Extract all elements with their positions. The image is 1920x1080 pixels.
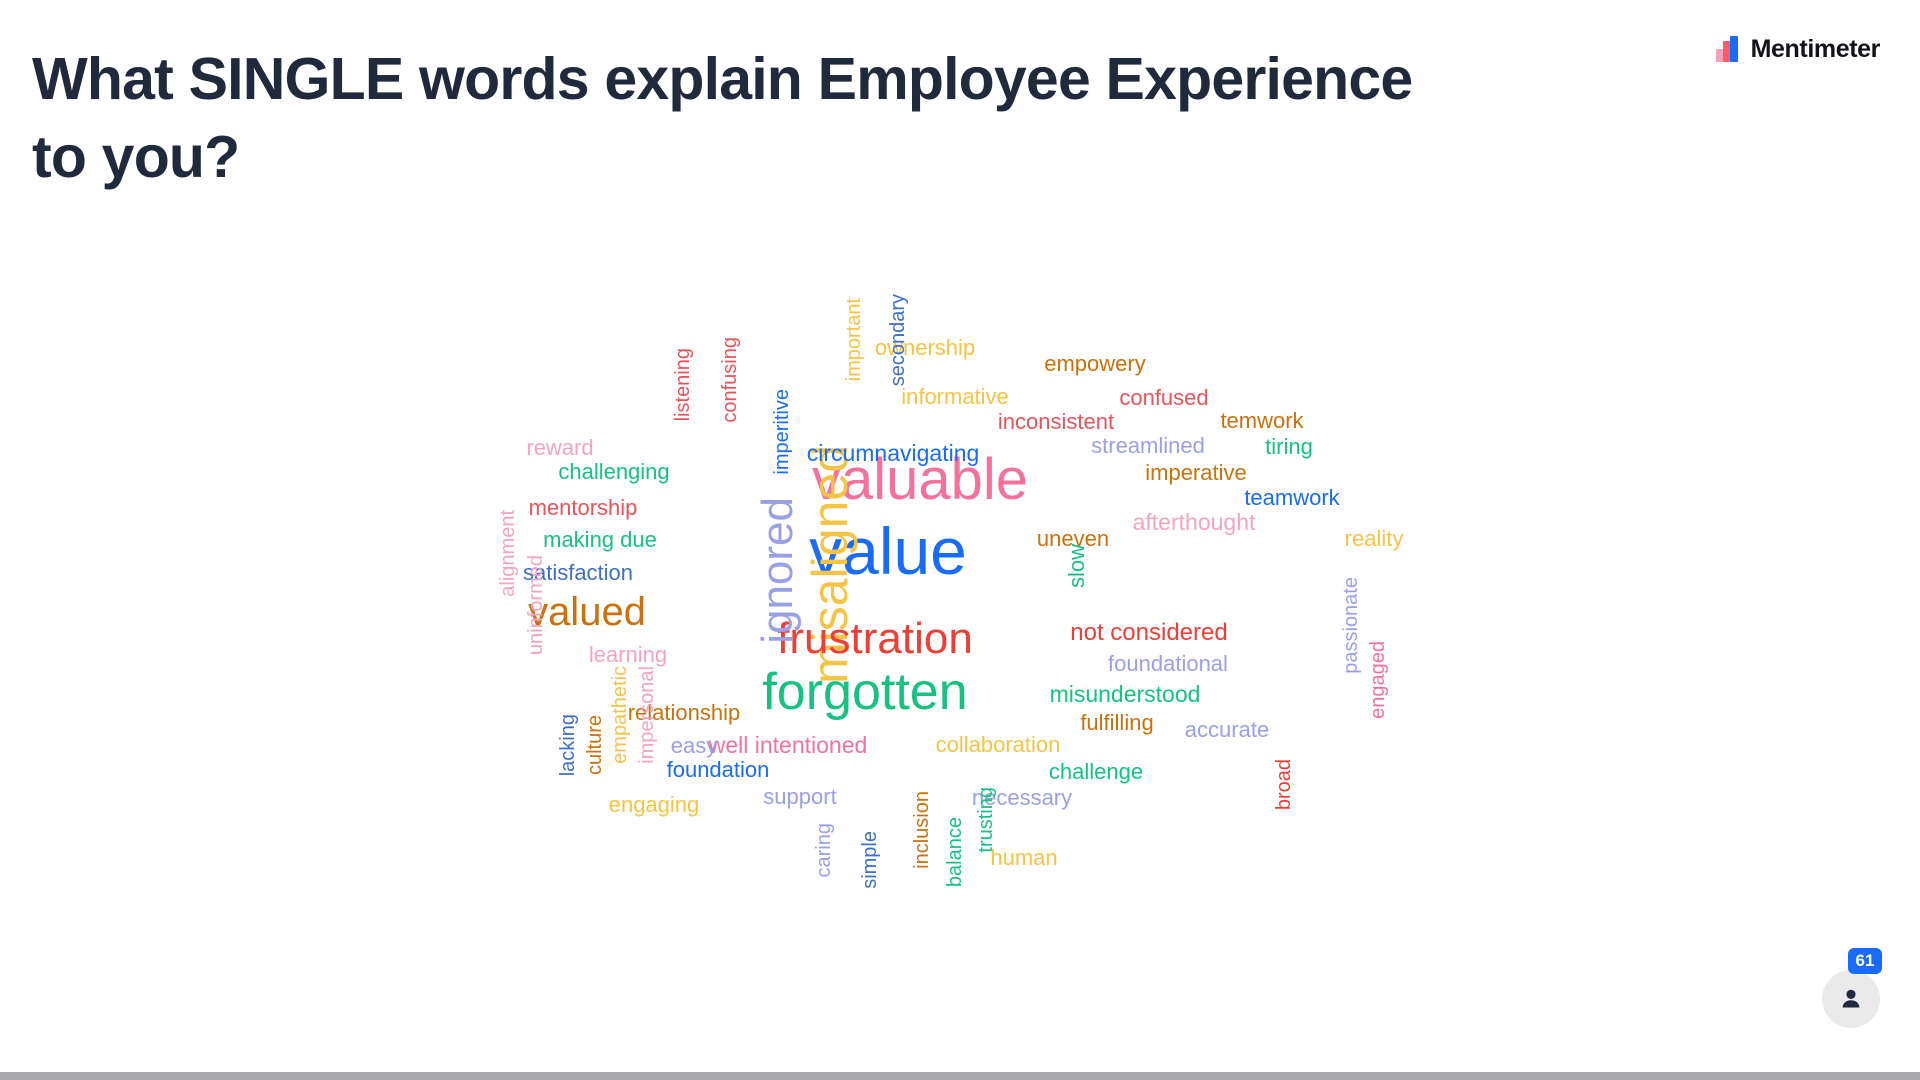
word-cloud-item[interactable]: tiring: [1265, 436, 1313, 458]
word-cloud-item[interactable]: lacking: [558, 714, 578, 776]
word-cloud-item[interactable]: impersonal: [637, 666, 657, 764]
word-cloud-item[interactable]: ignored: [756, 497, 800, 644]
word-cloud-item[interactable]: imperitive: [772, 389, 792, 475]
word-cloud-item[interactable]: mentorship: [529, 497, 638, 519]
word-cloud-item[interactable]: forgotten: [762, 666, 967, 718]
participant-count-badge: 61: [1848, 948, 1882, 974]
word-cloud-item[interactable]: culture: [585, 715, 605, 775]
word-cloud-item[interactable]: challenging: [558, 461, 669, 483]
word-cloud-item[interactable]: passionate: [1341, 577, 1361, 674]
word-cloud-item[interactable]: broad: [1274, 759, 1294, 810]
word-cloud-item[interactable]: inclusion: [912, 791, 932, 869]
word-cloud-item[interactable]: uninformed: [526, 555, 546, 655]
mentimeter-logo: Mentimeter: [1716, 36, 1880, 62]
word-cloud-item[interactable]: reality: [1345, 528, 1404, 550]
word-cloud-item[interactable]: not considered: [1070, 621, 1227, 645]
avatar: [1822, 970, 1880, 1028]
word-cloud-item[interactable]: informative: [901, 386, 1009, 408]
word-cloud-item[interactable]: imperative: [1145, 462, 1246, 484]
word-cloud-item[interactable]: important: [844, 298, 864, 381]
word-cloud-item[interactable]: easy: [671, 735, 717, 757]
word-cloud-item[interactable]: support: [763, 786, 836, 808]
person-icon: [1838, 986, 1864, 1012]
word-cloud-item[interactable]: well intentioned: [709, 734, 868, 757]
word-cloud-item[interactable]: learning: [589, 644, 667, 666]
word-cloud-item[interactable]: foundation: [667, 759, 770, 781]
word-cloud-item[interactable]: caring: [814, 823, 834, 877]
mentimeter-wordmark: Mentimeter: [1751, 37, 1880, 62]
word-cloud-item[interactable]: confused: [1119, 387, 1208, 409]
word-cloud-item[interactable]: reward: [526, 437, 593, 459]
participant-counter[interactable]: 61: [1822, 960, 1884, 1022]
word-cloud-item[interactable]: secondary: [888, 294, 908, 386]
word-cloud-item[interactable]: fulfilling: [1080, 712, 1153, 734]
bottom-progress-bar: [0, 1072, 1920, 1080]
word-cloud-item[interactable]: accurate: [1185, 719, 1269, 741]
page-title: What SINGLE words explain Employee Exper…: [32, 40, 1452, 197]
word-cloud-item[interactable]: simple: [860, 831, 880, 889]
word-cloud-item[interactable]: engaged: [1368, 641, 1388, 719]
word-cloud-item[interactable]: streamlined: [1091, 435, 1205, 457]
word-cloud-item[interactable]: inconsistent: [998, 411, 1114, 433]
mentimeter-bars-icon: [1716, 36, 1742, 62]
word-cloud-item[interactable]: balance: [945, 817, 965, 887]
word-cloud-item[interactable]: afterthought: [1133, 511, 1256, 534]
word-cloud-item[interactable]: alignment: [498, 510, 518, 597]
word-cloud-item[interactable]: teamwork: [1244, 487, 1339, 509]
word-cloud-item[interactable]: misunderstood: [1050, 683, 1201, 706]
word-cloud-item[interactable]: foundational: [1108, 653, 1228, 675]
word-cloud-item[interactable]: engaging: [609, 794, 700, 816]
word-cloud-item[interactable]: confusing: [720, 337, 740, 423]
word-cloud-item[interactable]: slow: [1066, 544, 1088, 588]
word-cloud-item[interactable]: empowery: [1044, 353, 1145, 375]
word-cloud-item[interactable]: circumnavigating: [807, 442, 980, 465]
word-cloud-item[interactable]: frustration: [777, 617, 973, 661]
word-cloud-item[interactable]: challenge: [1049, 761, 1143, 783]
word-cloud-item[interactable]: empathetic: [610, 666, 630, 764]
word-cloud-item[interactable]: temwork: [1220, 410, 1303, 432]
word-cloud-item[interactable]: human: [990, 847, 1057, 869]
word-cloud-item[interactable]: collaboration: [936, 734, 1061, 756]
word-cloud-item[interactable]: listening: [673, 348, 693, 421]
word-cloud-item[interactable]: making due: [543, 529, 657, 551]
word-cloud-item[interactable]: trusting: [976, 787, 996, 853]
